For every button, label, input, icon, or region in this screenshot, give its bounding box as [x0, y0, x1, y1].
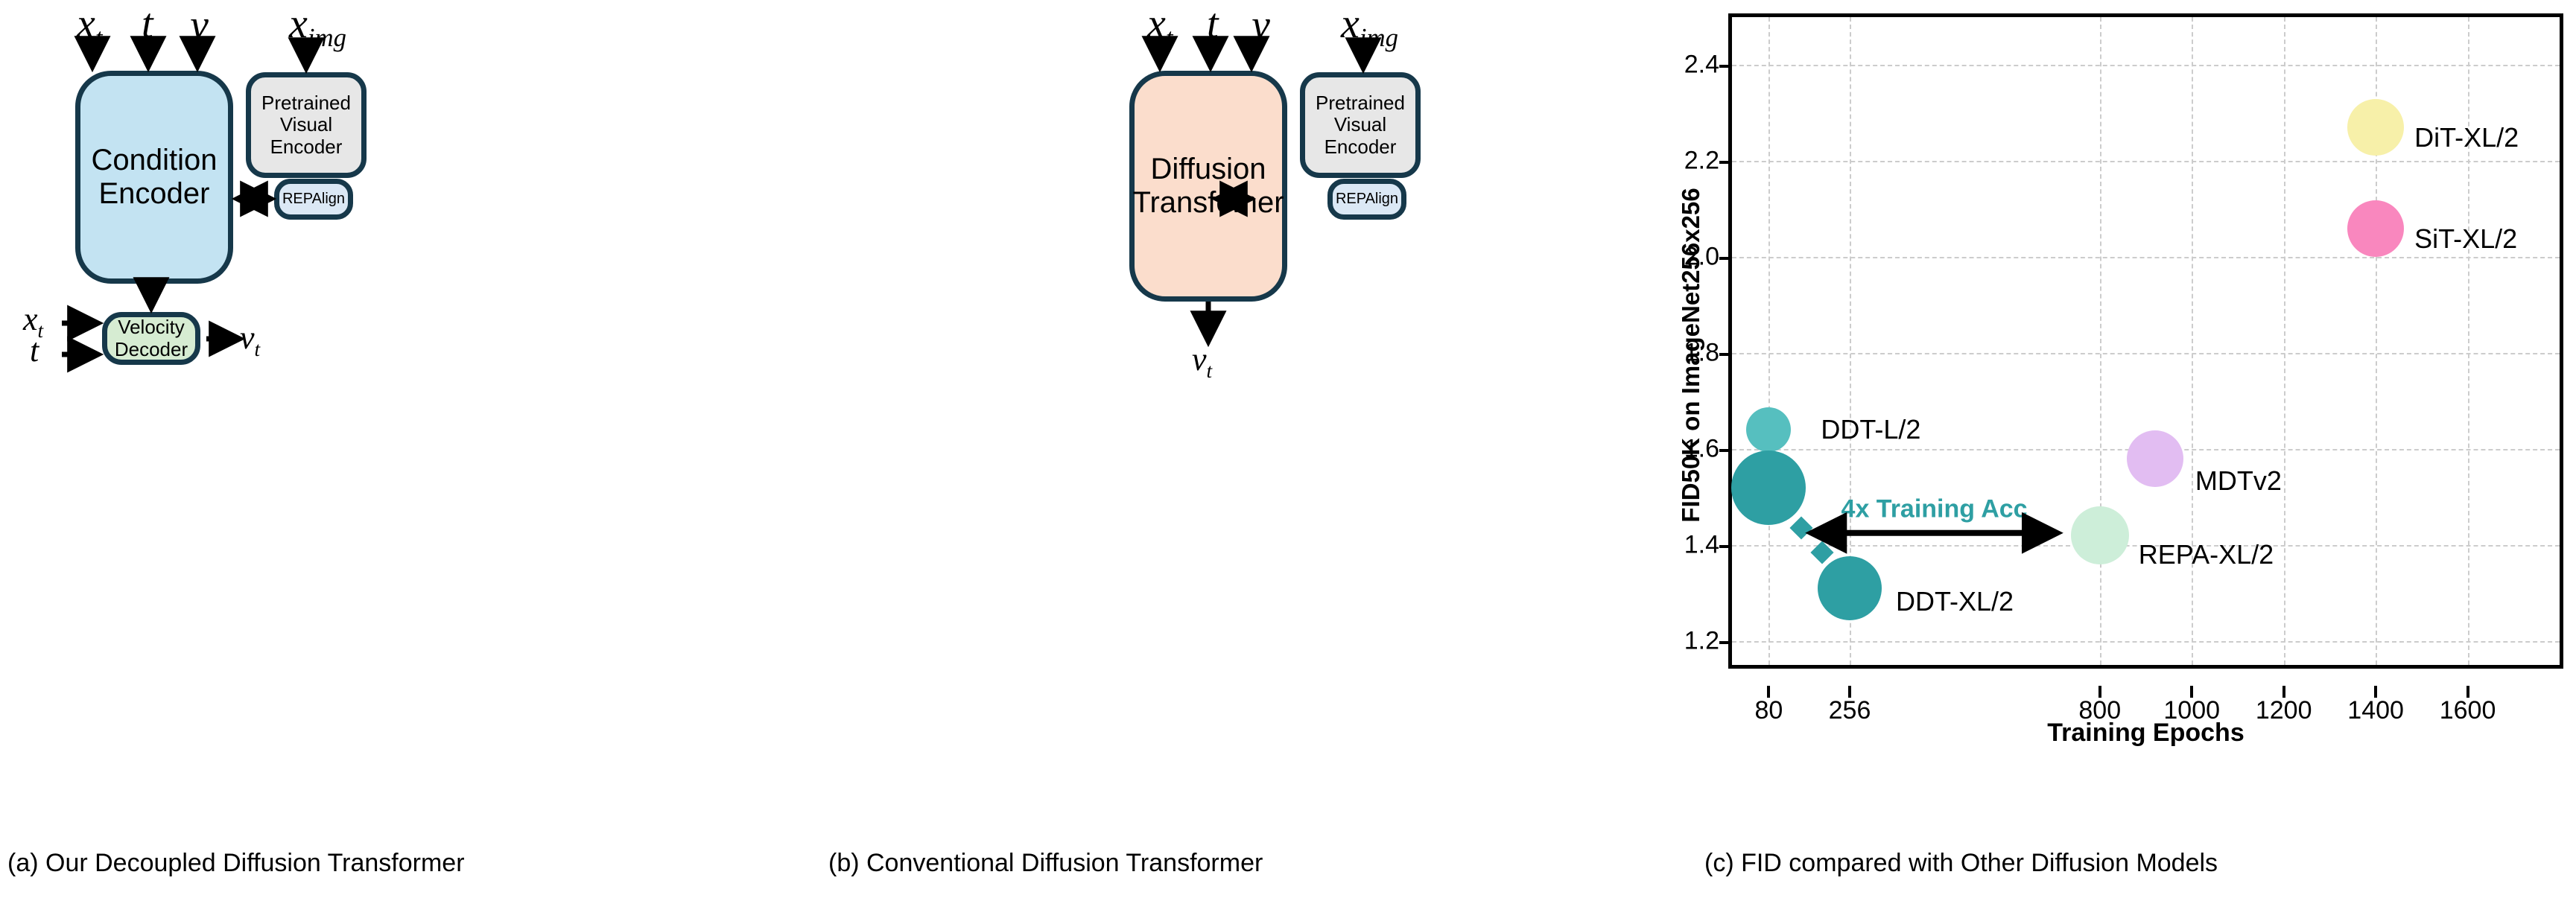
- condition-encoder-box[interactable]: Condition Encoder: [75, 71, 233, 284]
- decoder-output-label-vt: vt: [240, 322, 260, 360]
- panel-b-output-label-vt: vt: [1192, 343, 1212, 381]
- input-label-t-a: t: [142, 3, 153, 45]
- diffusion-transformer-line-1: Diffusion: [1133, 153, 1284, 186]
- chart-x-axis-title: Training Epochs: [1728, 719, 2563, 748]
- input-label-ximg-b: ximg: [1341, 3, 1398, 51]
- input-label-y-b: y: [1251, 4, 1270, 46]
- x-tick-mark: [2466, 686, 2469, 698]
- y-tick-label: 2.4: [1684, 51, 1719, 80]
- repalign-box-a[interactable]: REPAlign: [274, 179, 353, 220]
- pretrained-visual-encoder-box-a[interactable]: Pretrained Visual Encoder: [246, 72, 367, 178]
- velocity-decoder-line-1: Velocity: [115, 316, 188, 338]
- x-tick-mark: [1767, 686, 1770, 698]
- x-tick-mark: [2282, 686, 2285, 698]
- x-tick-mark: [2190, 686, 2193, 698]
- y-tick-mark: [1719, 449, 1732, 452]
- repalign-a-label: REPAlign: [282, 191, 345, 207]
- input-label-ximg-a: ximg: [289, 3, 346, 51]
- decoder-input-label-t: t: [30, 334, 39, 367]
- velocity-decoder-box[interactable]: Velocity Decoder: [102, 312, 200, 365]
- x-tick-mark: [2098, 686, 2101, 698]
- panel-b-conventional-diffusion-transformer: xt t y ximg Diffusion Transfomer Pretrai…: [819, 0, 1646, 898]
- panel-b-caption: (b) Conventional Diffusion Transformer: [828, 849, 1263, 878]
- repalign-b-label: REPAlign: [1336, 191, 1398, 207]
- condition-encoder-line-2: Encoder: [91, 177, 217, 211]
- y-tick-mark: [1719, 65, 1732, 68]
- y-tick-mark: [1719, 353, 1732, 356]
- velocity-decoder-line-2: Decoder: [115, 339, 188, 360]
- panel-c-fid-chart: FID50K on ImageNet256x256 DDT-L/2DDT-XL/…: [1646, 0, 2576, 898]
- pve-b-line-3: Encoder: [1316, 136, 1405, 158]
- y-tick-label: 1.4: [1684, 530, 1719, 559]
- pve-a-line-2: Visual: [261, 114, 351, 136]
- repalign-box-b[interactable]: REPAlign: [1327, 179, 1406, 220]
- input-label-y-a: y: [190, 4, 209, 46]
- panel-a-decoupled-diffusion-transformer: xt t y ximg Condition Encoder Pretrained…: [0, 0, 819, 898]
- pretrained-visual-encoder-box-b[interactable]: Pretrained Visual Encoder: [1300, 72, 1421, 178]
- y-tick-label: 1.2: [1684, 626, 1719, 655]
- y-tick-label: 2.0: [1684, 243, 1719, 272]
- y-tick-mark: [1719, 161, 1732, 164]
- diffusion-transformer-line-2: Transfomer: [1133, 186, 1284, 220]
- x-tick-mark: [2374, 686, 2377, 698]
- input-label-xt-a: xt: [77, 3, 103, 51]
- pve-a-line-1: Pretrained: [261, 92, 351, 114]
- diffusion-transformer-box[interactable]: Diffusion Transfomer: [1129, 71, 1287, 302]
- chart-plot-area: DDT-L/2DDT-XL/2REPA-XL/2MDTv2DiT-XL/2SiT…: [1728, 13, 2563, 669]
- chart-speedup-arrow: [1732, 17, 2560, 665]
- y-tick-label: 1.6: [1684, 435, 1719, 464]
- y-tick-mark: [1719, 641, 1732, 644]
- y-tick-label: 1.8: [1684, 339, 1719, 368]
- input-label-t-b: t: [1207, 3, 1219, 45]
- figure-root: xt t y ximg Condition Encoder Pretrained…: [0, 0, 2576, 898]
- condition-encoder-line-1: Condition: [91, 144, 217, 177]
- pve-b-line-1: Pretrained: [1316, 92, 1405, 114]
- pve-a-line-3: Encoder: [261, 136, 351, 158]
- pve-b-line-2: Visual: [1316, 114, 1405, 136]
- input-label-xt-b: xt: [1147, 3, 1173, 51]
- panel-c-caption: (c) FID compared with Other Diffusion Mo…: [1704, 849, 2218, 878]
- panel-a-caption: (a) Our Decoupled Diffusion Transformer: [7, 849, 465, 878]
- y-tick-label: 2.2: [1684, 147, 1719, 176]
- x-tick-mark: [1848, 686, 1851, 698]
- y-tick-mark: [1719, 257, 1732, 260]
- y-tick-mark: [1719, 545, 1732, 548]
